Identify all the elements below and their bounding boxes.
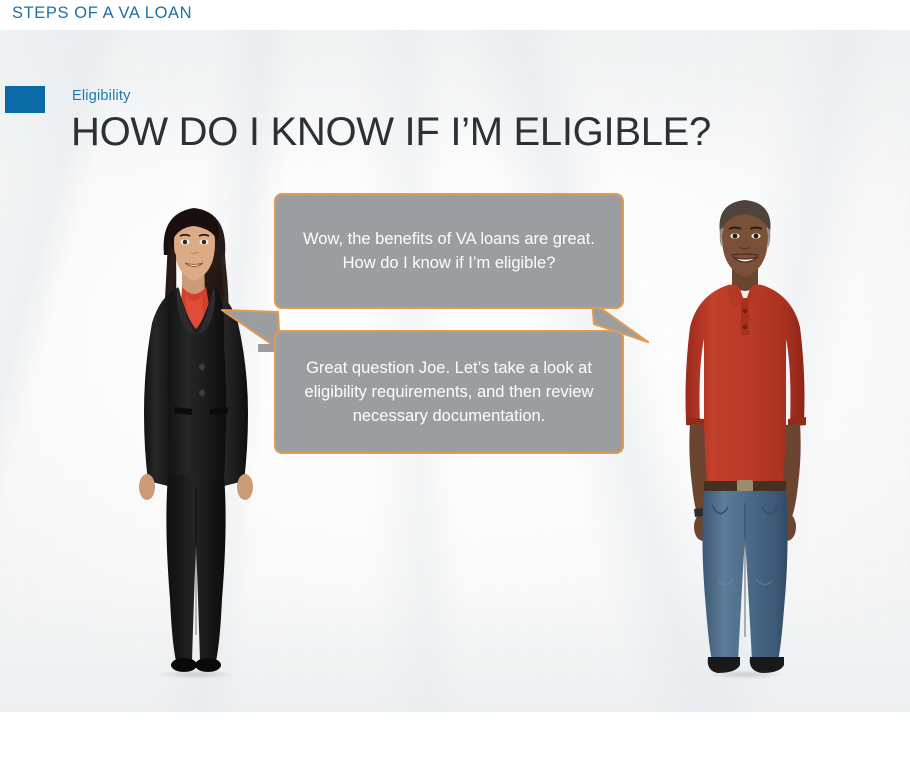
character-man-shadow: [707, 670, 785, 679]
bubble-answer-tail: [222, 308, 282, 350]
title-accent-block: [5, 86, 45, 113]
course-title: STEPS OF A VA LOAN: [12, 4, 192, 23]
player-controls: PREV NEXT: [0, 712, 910, 775]
speech-bubble-question-text: Wow, the benefits of VA loans are great.…: [276, 227, 622, 275]
course-player: STEPS OF A VA LOAN Eligibility HOW DO I …: [0, 0, 910, 775]
character-woman-figure: [108, 195, 283, 675]
slide-canvas: Eligibility HOW DO I KNOW IF I’M ELIGIBL…: [0, 30, 910, 712]
speech-bubble-answer: Great question Joe. Let’s take a look at…: [274, 330, 624, 454]
character-woman: [108, 195, 283, 675]
speech-bubble-question: Wow, the benefits of VA loans are great.…: [274, 193, 624, 309]
character-woman-shadow: [157, 670, 235, 679]
speech-bubble-answer-text: Great question Joe. Let’s take a look at…: [276, 356, 622, 428]
character-man-figure: [648, 185, 843, 675]
slide-title: HOW DO I KNOW IF I’M ELIGIBLE?: [71, 108, 711, 156]
course-header: STEPS OF A VA LOAN: [0, 0, 910, 30]
slide-eyebrow: Eligibility: [72, 88, 131, 104]
character-man: [648, 185, 843, 675]
